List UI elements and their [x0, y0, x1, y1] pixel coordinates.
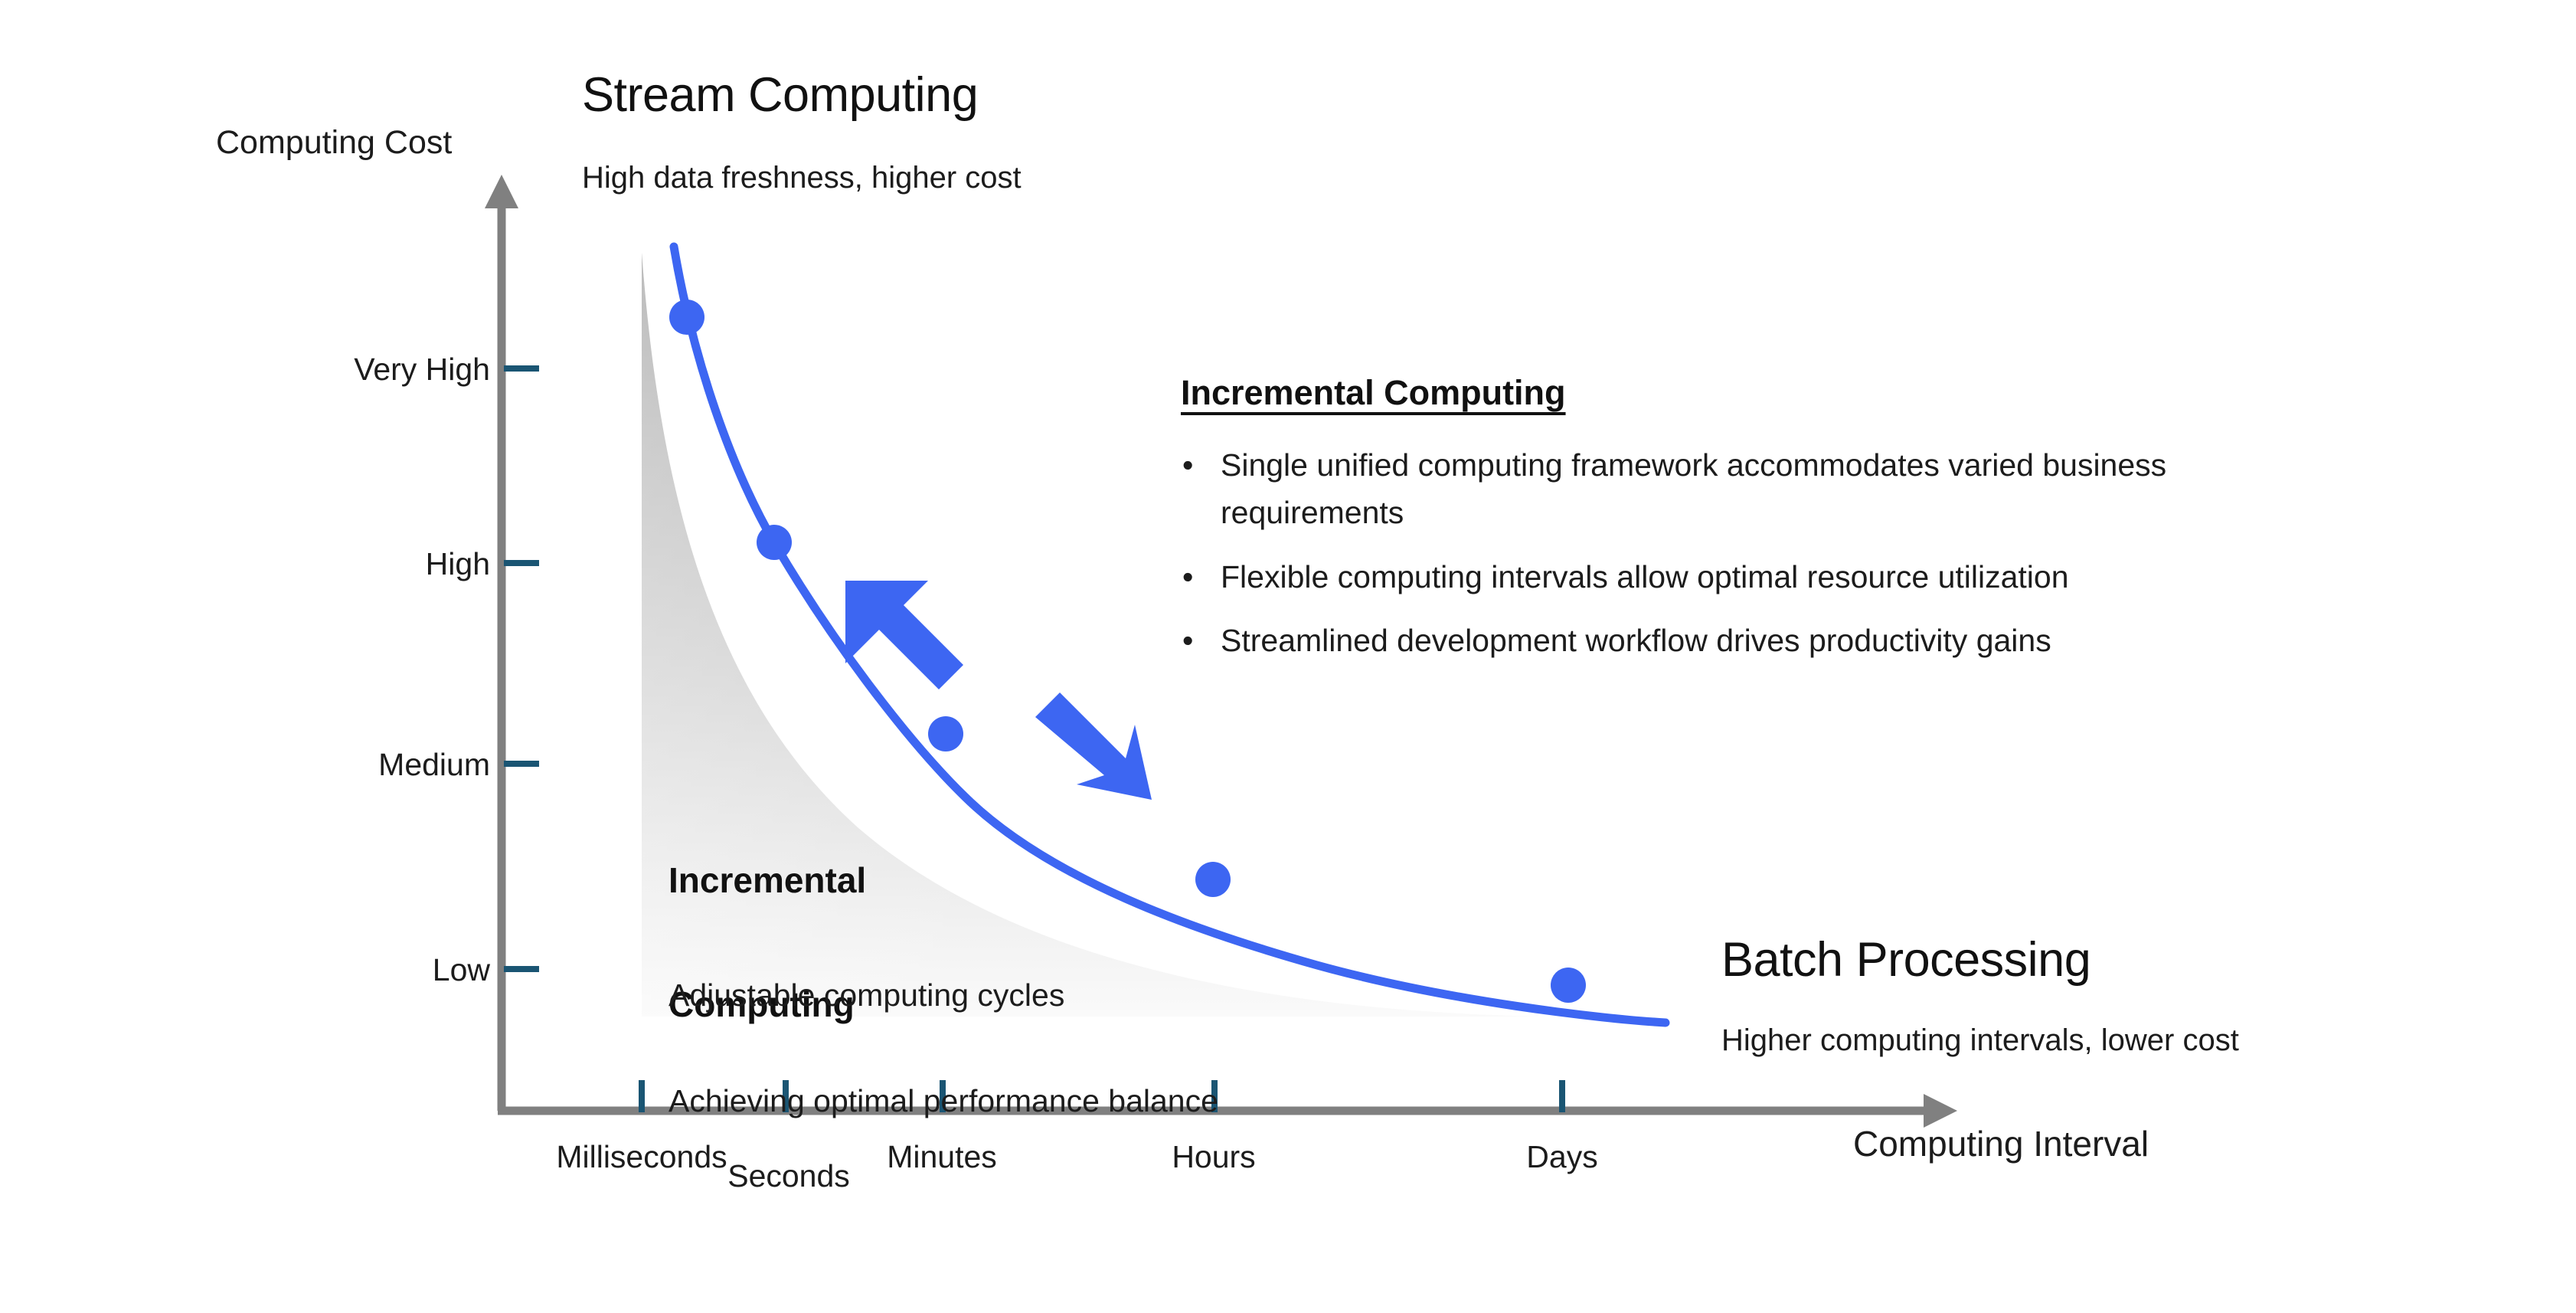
bullet-glyph-icon: •	[1182, 553, 1193, 601]
data-point-seconds[interactable]	[757, 525, 792, 560]
incremental-region-label-line1: Incremental	[669, 860, 866, 901]
list-item-text: Single unified computing framework accom…	[1221, 447, 2166, 530]
stream-computing-subtitle: High data freshness, higher cost	[582, 162, 1022, 193]
incremental-computing-panel: Incremental Computing • Single unified c…	[1181, 373, 2253, 680]
data-point-hours[interactable]	[1195, 862, 1231, 897]
y-tick-label-medium: Medium	[291, 749, 490, 781]
axis-arrow-right-icon	[1924, 1094, 1957, 1128]
list-item-text: Streamlined development workflow drives …	[1221, 623, 2051, 658]
y-axis-ticks	[504, 368, 539, 969]
incremental-region-sublabel-line2: Achieving optimal performance balance	[669, 1084, 1218, 1119]
data-point-days[interactable]	[1551, 968, 1586, 1003]
batch-processing-title: Batch Processing	[1721, 936, 2091, 984]
x-tick-label-days: Days	[1486, 1141, 1639, 1173]
list-item-text: Flexible computing intervals allow optim…	[1221, 559, 2069, 594]
y-tick-label-low: Low	[291, 954, 490, 986]
bullet-glyph-icon: •	[1182, 441, 1193, 489]
list-item: • Single unified computing framework acc…	[1181, 441, 2253, 537]
y-tick-label-very-high: Very High	[291, 354, 490, 385]
data-point-minutes[interactable]	[928, 716, 963, 751]
y-tick-label-high: High	[291, 548, 490, 580]
batch-processing-subtitle: Higher computing intervals, lower cost	[1721, 1025, 2239, 1056]
stream-computing-title: Stream Computing	[582, 71, 978, 120]
incremental-region-sublabel: Adjustable computing cycles Achieving op…	[669, 908, 1218, 1189]
bullet-glyph-icon: •	[1182, 617, 1193, 664]
list-item: • Streamlined development workflow drive…	[1181, 617, 2253, 664]
incremental-computing-panel-heading: Incremental Computing	[1181, 373, 1566, 413]
incremental-region-sublabel-line1: Adjustable computing cycles	[669, 978, 1218, 1013]
chart-canvas: Computing Cost Computing Interval Very H…	[0, 0, 2576, 1313]
y-axis-title: Computing Cost	[216, 126, 452, 159]
incremental-computing-bullet-list: • Single unified computing framework acc…	[1181, 441, 2253, 664]
data-point-milliseconds[interactable]	[669, 300, 704, 335]
axis-arrow-up-icon	[485, 175, 518, 208]
x-axis-title: Computing Interval	[1853, 1126, 2149, 1161]
list-item: • Flexible computing intervals allow opt…	[1181, 553, 2253, 601]
arrow-down-right-icon	[1035, 693, 1152, 800]
